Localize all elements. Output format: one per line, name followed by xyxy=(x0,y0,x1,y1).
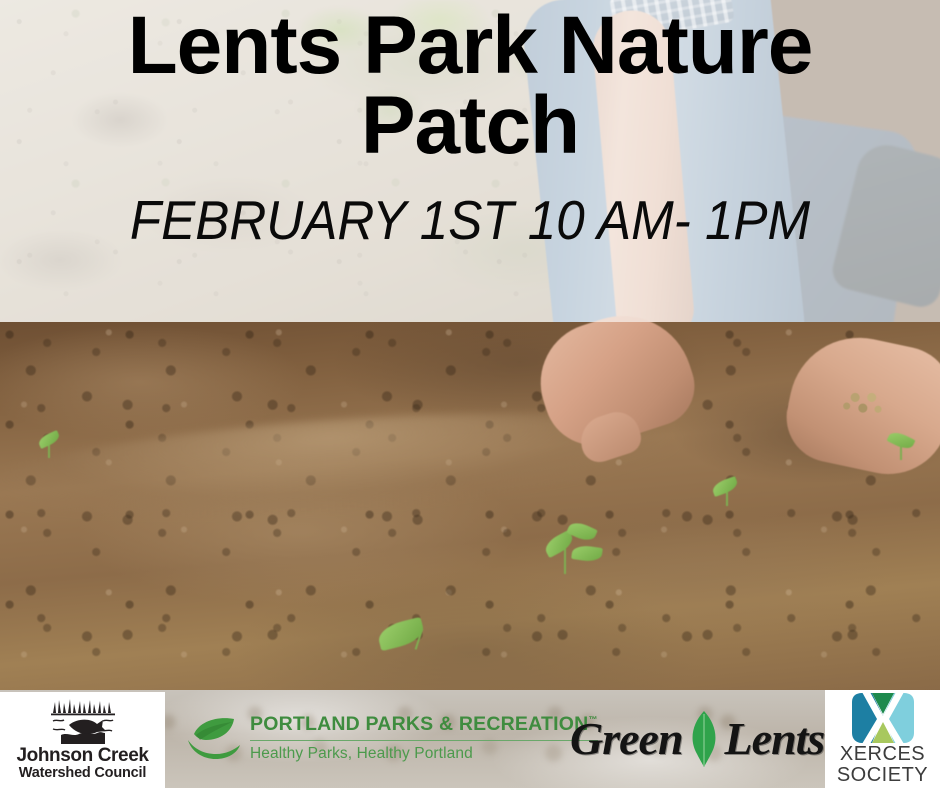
johnson-creek-name: Johnson Creek xyxy=(16,746,148,766)
logo-xerces-society[interactable]: XERCES SOCIETY xyxy=(825,690,940,788)
portland-parks-divider xyxy=(250,740,598,741)
seedling-icon xyxy=(884,432,924,462)
seedling-icon xyxy=(538,522,608,580)
event-flyer: Lents Park Nature Patch FEBRUARY 1ST 10 … xyxy=(0,0,940,788)
green-leaf-icon xyxy=(687,710,721,768)
sponsor-logo-bar: Johnson Creek Watershed Council PORTLAND… xyxy=(0,690,940,788)
logo-green-lents[interactable]: Green Lents xyxy=(570,706,824,772)
headline-block: Lents Park Nature Patch FEBRUARY 1ST 10 … xyxy=(0,0,940,322)
seedling-icon xyxy=(712,478,752,508)
event-datetime: FEBRUARY 1ST 10 AM- 1PM xyxy=(61,167,879,248)
seedling-icon xyxy=(36,432,70,460)
logo-portland-parks-recreation[interactable]: PORTLAND PARKS & RECREATION™ Healthy Par… xyxy=(186,712,598,764)
xerces-line-2: SOCIETY xyxy=(837,765,928,786)
logo-johnson-creek-watershed-council[interactable]: Johnson Creek Watershed Council xyxy=(0,692,165,788)
seedling-icon xyxy=(378,618,434,652)
portland-parks-title: PORTLAND PARKS & RECREATION™ xyxy=(250,713,598,736)
page-title-line-2: Patch xyxy=(361,80,579,171)
page-title: Lents Park Nature Patch xyxy=(60,6,880,167)
leaf-in-hand-icon xyxy=(186,712,242,764)
johnson-creek-subtitle: Watershed Council xyxy=(19,766,146,782)
xerces-line-1: XERCES xyxy=(840,744,925,765)
xerces-x-icon xyxy=(846,692,920,744)
page-title-line-1: Lents Park Nature xyxy=(128,0,813,91)
portland-parks-title-text: PORTLAND PARKS & RECREATION xyxy=(250,713,588,735)
portland-parks-text: PORTLAND PARKS & RECREATION™ Healthy Par… xyxy=(250,713,598,763)
green-lents-word-1: Green xyxy=(570,716,683,762)
portland-parks-tagline: Healthy Parks, Healthy Portland xyxy=(250,745,598,763)
creek-fish-grass-icon xyxy=(47,699,119,745)
green-lents-word-2: Lents xyxy=(725,716,825,762)
